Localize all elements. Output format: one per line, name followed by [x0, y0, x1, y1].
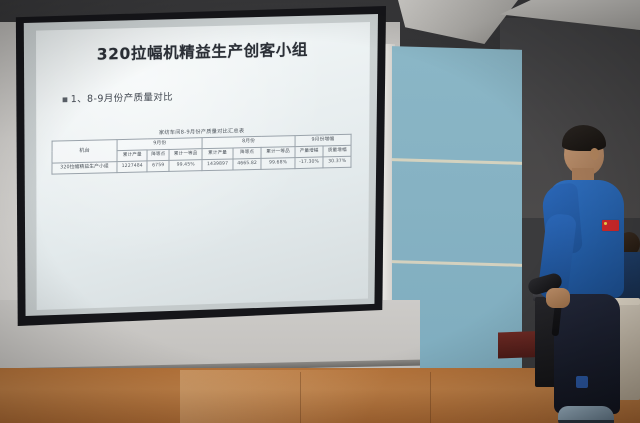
column-header-output-growth: 产量增幅	[295, 146, 324, 157]
cell-aug-first-grade: 99.68%	[261, 157, 294, 169]
floor-seam	[300, 372, 301, 423]
slide-content: 320拉幅机精益生产创客小组 ▪1、8-9月份产质量对比 家纺车间8-9月份产质…	[33, 14, 370, 310]
cell-sep-downgrade: 6759	[147, 160, 169, 171]
presenter	[540, 128, 632, 423]
cell-aug-output: 1439897	[202, 159, 232, 171]
column-header-sep-firstgrade: 累计一等品	[169, 149, 202, 160]
presentation-room-scene: 320拉幅机精益生产创客小组 ▪1、8-9月份产质量对比 家纺车间8-9月份产质…	[0, 0, 640, 423]
presenter-hand	[546, 288, 570, 308]
china-flag-patch-icon	[602, 220, 619, 231]
cell-sep-output: 1227484	[117, 161, 147, 173]
cell-output-growth: -17.30%	[295, 157, 324, 169]
column-header-machine: 机台	[52, 140, 117, 163]
cell-aug-downgrade: 4665.82	[233, 158, 262, 170]
slide-bullet-text: 1、8-9月份产质量对比	[71, 92, 173, 105]
cell-quality-growth: 30.37%	[323, 156, 351, 168]
column-header-aug-downgrade: 降等点	[233, 147, 262, 158]
column-header-sep-output: 累计产量	[117, 150, 147, 161]
floor-seam	[430, 372, 431, 423]
floor-reflection	[180, 370, 480, 423]
column-header-aug-output: 累计产量	[202, 148, 232, 159]
column-header-aug-firstgrade: 累计一等品	[261, 147, 294, 158]
presenter-legs	[554, 294, 620, 414]
cell-sep-first-grade: 99.45%	[169, 159, 202, 171]
slide-title: 320拉幅机精益生产创客小组	[60, 37, 345, 65]
presenter-hair	[562, 125, 606, 151]
bullet-marker-icon: ▪	[62, 94, 71, 105]
pants-logo	[576, 376, 588, 388]
column-header-sep-downgrade: 降等点	[147, 149, 169, 160]
comparison-table: 机台 9月份 8月份 9月份增幅 累计产量 降等点 累计一等品 累计产量 降等点…	[51, 134, 351, 175]
column-header-quality-growth: 质量增幅	[323, 145, 351, 156]
presenter-ear	[590, 148, 599, 160]
flag-star-icon	[604, 222, 607, 225]
cell-machine: 320拉幅精益生产小组	[52, 161, 117, 173]
slide-bullet-item: ▪1、8-9月份产质量对比	[62, 85, 342, 105]
slide-table-wrapper: 家纺车间8-9月份产质量对比汇总表 机台 9月份 8月份 9月份增幅 累计产量 …	[51, 125, 351, 175]
